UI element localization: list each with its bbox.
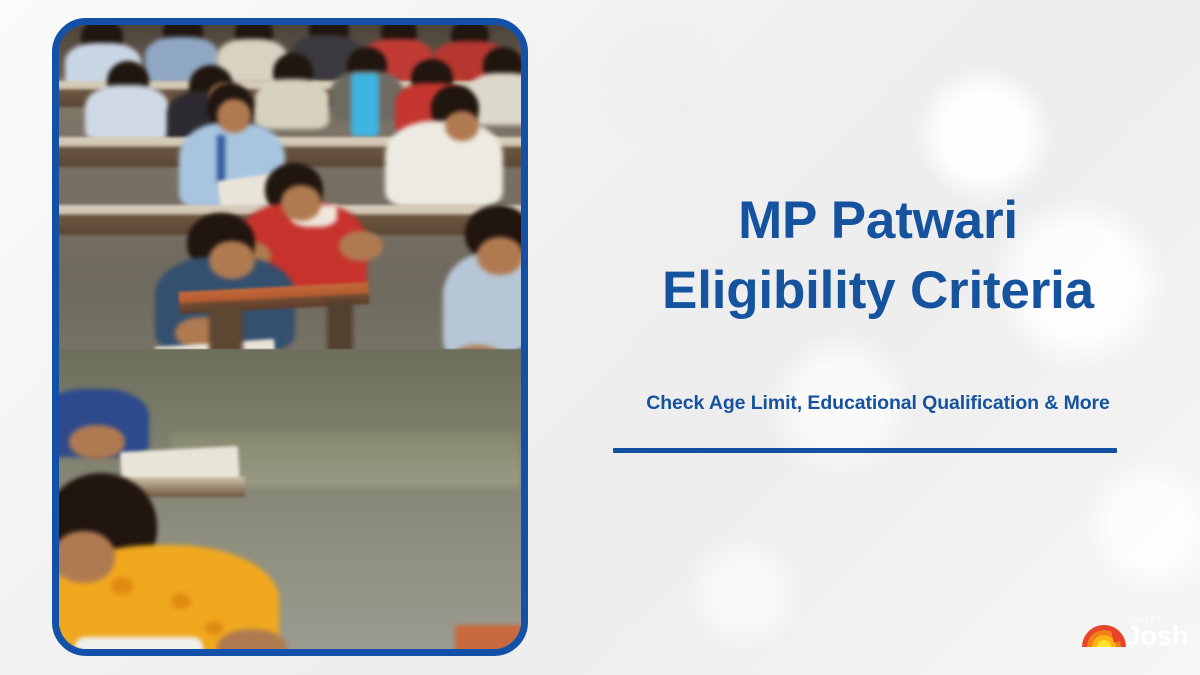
title-divider xyxy=(613,448,1117,453)
logo-main-text: Josh xyxy=(1125,620,1188,652)
page-title-line-1: MP Patwari xyxy=(613,186,1143,256)
photo-frame xyxy=(52,18,528,656)
sunrise-icon xyxy=(1081,618,1127,648)
page-title: MP Patwari Eligibility Criteria xyxy=(613,186,1143,326)
banner-root: MP Patwari Eligibility Criteria Check Ag… xyxy=(0,0,1200,675)
jagran-josh-logo[interactable]: jagran Josh xyxy=(1081,612,1189,658)
exam-hall-photo xyxy=(59,25,521,649)
page-subtitle: Check Age Limit, Educational Qualificati… xyxy=(613,392,1143,415)
content-column: MP Patwari Eligibility Criteria Check Ag… xyxy=(600,0,1200,675)
logo-wordmark: jagran Josh xyxy=(1125,614,1191,656)
page-title-line-2: Eligibility Criteria xyxy=(613,256,1143,326)
